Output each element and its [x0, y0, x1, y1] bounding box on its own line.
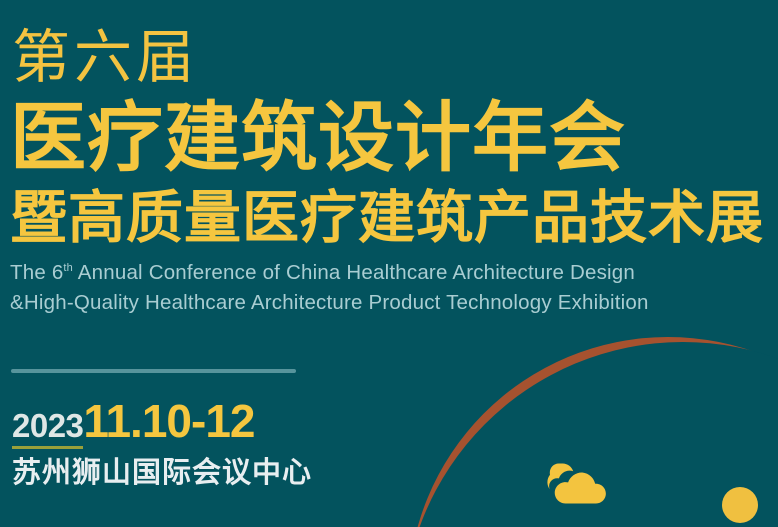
page-subtitle: 暨高质量医疗建筑产品技术展 [10, 190, 764, 247]
ordinal-suffix: th [63, 262, 73, 274]
english-title-line-1: The 6th Annual Conference of China Healt… [10, 263, 635, 284]
event-date: 2023 11.10-12 [12, 398, 254, 444]
cloud-icon [545, 457, 607, 507]
english-title-line-1-suffix: Annual Conference of China Healthcare Ar… [73, 261, 635, 284]
edition-kicker: 第六届 [12, 28, 198, 86]
event-date-range: 11.10-12 [83, 398, 254, 444]
event-year: 2023 [12, 409, 83, 442]
event-venue: 苏州狮山国际会议中心 [12, 458, 312, 487]
gold-circle-decoration [722, 487, 758, 523]
english-title-line-2: &High-Quality Healthcare Architecture Pr… [10, 293, 649, 314]
page-title: 医疗建筑设计年会 [10, 100, 626, 176]
english-title-line-1-prefix: The 6 [10, 261, 63, 284]
conference-poster: 第六届 医疗建筑设计年会 暨高质量医疗建筑产品技术展 The 6th Annua… [0, 0, 778, 527]
divider [11, 369, 296, 373]
